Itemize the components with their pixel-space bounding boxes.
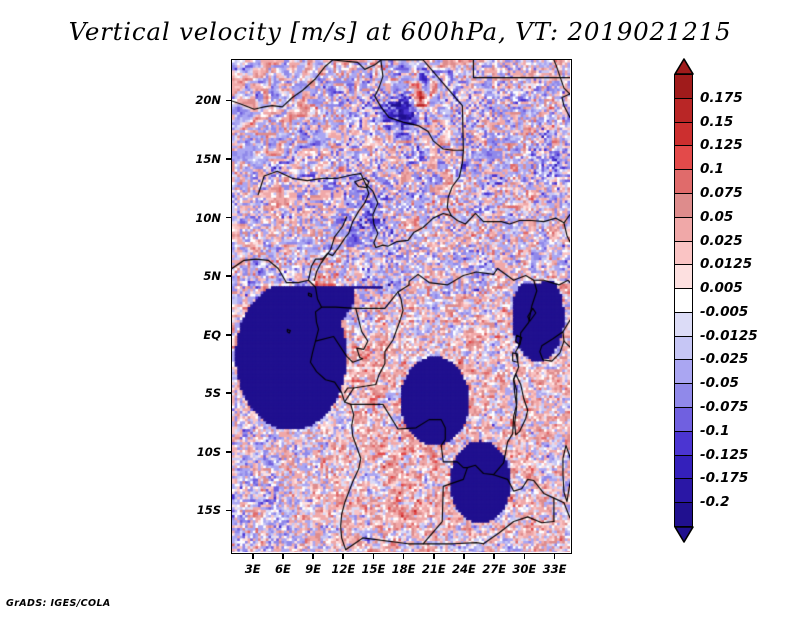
colorbar-tick-label: 0.1 — [700, 161, 724, 177]
colorbar-band — [674, 169, 693, 194]
colorbar-tick-label: -0.0125 — [700, 328, 758, 344]
colorbar-band — [674, 407, 693, 432]
colorbar-band — [674, 241, 693, 266]
y-axis-label: 10S — [163, 445, 221, 459]
colorbar-tick-label: 0.15 — [700, 114, 733, 130]
colorbar-band — [674, 359, 693, 384]
x-axis-tick — [252, 554, 254, 559]
colorbar-tick-label: -0.075 — [700, 399, 748, 415]
colorbar-band — [674, 431, 693, 456]
y-axis-label: 5N — [163, 269, 221, 283]
x-axis-tick — [463, 554, 465, 559]
y-axis-tick — [226, 510, 231, 512]
colorbar-band — [674, 74, 693, 99]
colorbar-tick-label: -0.125 — [700, 447, 748, 463]
x-axis-label: 33E — [530, 562, 580, 576]
y-axis-tick — [226, 100, 231, 102]
colorbar-tick-label: 0.025 — [700, 233, 743, 249]
colorbar-band — [674, 122, 693, 147]
colorbar-tick-label: 0.05 — [700, 209, 733, 225]
colorbar-tick-label: 0.075 — [700, 185, 743, 201]
y-axis-tick — [226, 158, 231, 160]
colorbar-band — [674, 455, 693, 480]
map-plot-area — [231, 59, 572, 554]
x-axis-tick — [493, 554, 495, 559]
colorbar-tick-label: 0.175 — [700, 90, 743, 106]
y-axis-label: 5S — [163, 386, 221, 400]
colorbar-tick-label: -0.1 — [700, 423, 730, 439]
figure-root: Vertical velocity [m/s] at 600hPa, VT: 2… — [0, 0, 800, 618]
colorbar-band — [674, 336, 693, 361]
colorbar-band — [674, 383, 693, 408]
colorbar-band — [674, 288, 693, 313]
x-axis-tick — [312, 554, 314, 559]
y-axis-label: 10N — [163, 211, 221, 225]
x-axis-tick — [433, 554, 435, 559]
colorbar-band — [674, 502, 693, 527]
y-axis-label: 15S — [163, 503, 221, 517]
attribution-label: GrADS: IGES/COLA — [6, 598, 111, 609]
country-borders-overlay — [232, 60, 570, 552]
colorbar-band — [674, 264, 693, 289]
colorbar-extend-min-arrow-icon — [674, 526, 694, 542]
y-axis-tick — [226, 334, 231, 336]
colorbar-tick-label: 0.0125 — [700, 256, 752, 272]
y-axis-tick — [226, 217, 231, 219]
y-axis-label: 15N — [163, 152, 221, 166]
colorbar-tick-label: -0.05 — [700, 375, 739, 391]
colorbar-band — [674, 193, 693, 218]
x-axis-tick — [524, 554, 526, 559]
y-axis-label: 20N — [163, 93, 221, 107]
x-axis-tick — [342, 554, 344, 559]
colorbar-tick-label: 0.125 — [700, 137, 743, 153]
x-axis-tick — [403, 554, 405, 559]
x-axis-tick — [282, 554, 284, 559]
colorbar: 0.1750.150.1250.10.0750.050.0250.01250.0… — [674, 74, 693, 526]
colorbar-tick-label: -0.175 — [700, 470, 748, 486]
x-axis-tick — [373, 554, 375, 559]
y-axis-label: EQ — [163, 328, 221, 342]
colorbar-tick-label: 0.005 — [700, 280, 743, 296]
colorbar-band — [674, 98, 693, 123]
y-axis-tick — [226, 392, 231, 394]
colorbar-tick-label: -0.2 — [700, 494, 730, 510]
colorbar-tick-label: -0.005 — [700, 304, 748, 320]
colorbar-band — [674, 217, 693, 242]
colorbar-tick-label: -0.025 — [700, 351, 748, 367]
x-axis-tick — [554, 554, 556, 559]
colorbar-band — [674, 145, 693, 170]
colorbar-extend-max-arrow-icon — [674, 58, 694, 74]
page-title: Vertical velocity [m/s] at 600hPa, VT: 2… — [0, 17, 800, 46]
colorbar-band — [674, 478, 693, 503]
colorbar-band — [674, 312, 693, 337]
y-axis-tick — [226, 451, 231, 453]
y-axis-tick — [226, 275, 231, 277]
